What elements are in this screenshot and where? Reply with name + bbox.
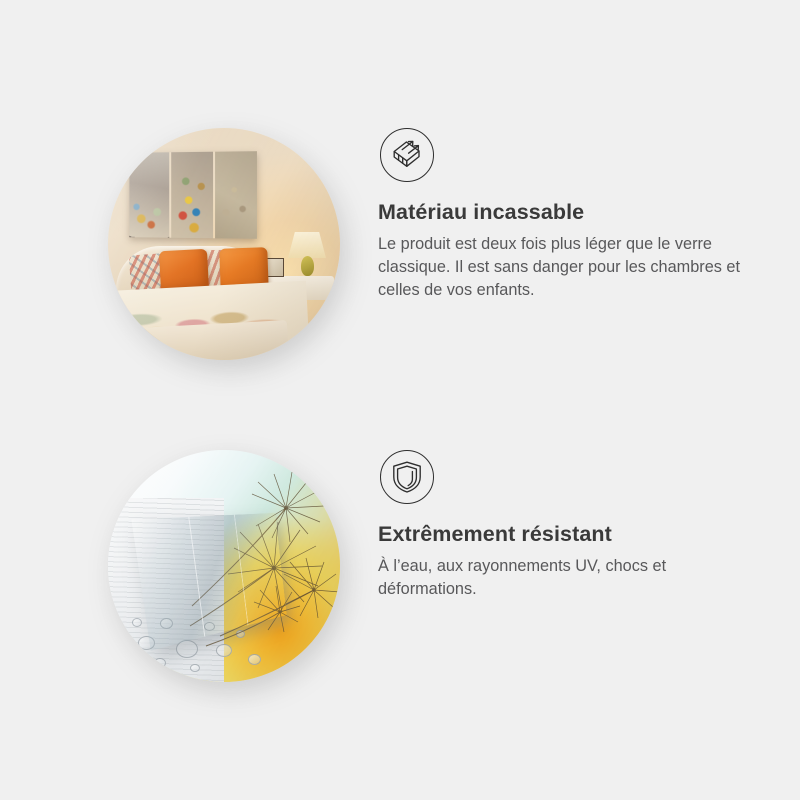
product-feature-page: Matériau incassable Le produit est deux … <box>0 0 800 800</box>
shield-glyph <box>391 460 423 494</box>
flexible-panel-arrows-glyph <box>390 138 424 172</box>
feature-2-content: Extrêmement résistant À l’eau, aux rayon… <box>378 450 768 601</box>
art-panel-center <box>172 152 213 239</box>
feature-1-title: Matériau incassable <box>378 200 768 226</box>
photo-scene-dandelion <box>108 450 340 682</box>
shield-icon <box>380 450 434 504</box>
feature-2-title: Extrêmement résistant <box>378 522 768 548</box>
photo-scene-bedroom <box>108 128 340 360</box>
feature-2-body: À l’eau, aux rayonnements UV, chocs et d… <box>378 555 748 601</box>
wall-art-triptych <box>129 151 257 239</box>
photo-circle-mask-2 <box>108 450 340 682</box>
feature-1-content: Matériau incassable Le produit est deux … <box>378 128 768 302</box>
photo-circle-mask <box>108 128 340 360</box>
art-panel-left <box>129 152 169 237</box>
dandelion-sunset-glass-photo <box>108 450 340 682</box>
feature-1-body: Le produit est deux fois plus léger que … <box>378 233 748 302</box>
art-panel-right <box>215 151 257 239</box>
bedroom-wall-art-photo <box>108 128 340 360</box>
flexible-panel-arrows-icon <box>380 128 434 182</box>
lamp-base <box>301 256 314 276</box>
bed-footboard <box>137 320 289 360</box>
